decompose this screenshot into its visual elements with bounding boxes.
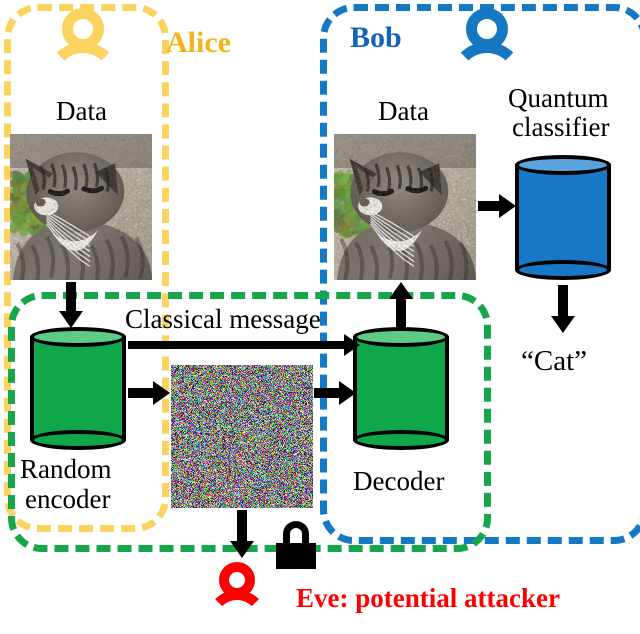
arrow-bob-data-to-classifier xyxy=(478,193,516,219)
alice-data-label: Data xyxy=(56,97,107,125)
random-encoder-cylinder xyxy=(30,327,126,450)
arrow-encoder-to-ciphertext xyxy=(128,380,170,406)
eve-label: Eve: potential attacker xyxy=(296,584,560,612)
alice-data-image xyxy=(10,134,152,280)
arrow-classifier-to-output xyxy=(550,285,576,333)
random-encoder-label-line1: Random xyxy=(20,455,112,483)
arrow-decoder-to-bob-data xyxy=(388,282,414,330)
arrow-encoder-to-decoder-message xyxy=(128,333,360,357)
ciphertext-noise-image xyxy=(171,365,313,508)
arrow-ciphertext-to-decoder xyxy=(314,380,356,406)
alice-label: Alice xyxy=(166,27,231,59)
quantum-classifier-label-line1: Quantum xyxy=(508,84,609,112)
classical-message-label: Classical message xyxy=(125,305,321,333)
alice-person-icon xyxy=(46,8,120,82)
eve-person-icon xyxy=(206,562,268,624)
bob-data-label: Data xyxy=(378,97,429,125)
padlock-icon xyxy=(276,521,316,569)
quantum-classifier-label-line2: classifier xyxy=(512,113,609,141)
classifier-output-label: “Cat” xyxy=(521,346,587,376)
arrow-alice-data-to-encoder xyxy=(58,282,84,328)
quantum-classifier-cylinder xyxy=(515,155,611,280)
bob-person-icon xyxy=(450,8,524,82)
decoder-cylinder xyxy=(353,327,449,450)
diagram-canvas: Alice Data Bob Data Quantum classifier “… xyxy=(0,0,640,634)
bob-label: Bob xyxy=(350,22,402,54)
random-encoder-label-line2: encoder xyxy=(25,485,110,513)
decoder-label: Decoder xyxy=(353,467,444,495)
arrow-ciphertext-to-eve xyxy=(229,510,255,558)
bob-data-image xyxy=(334,134,476,280)
